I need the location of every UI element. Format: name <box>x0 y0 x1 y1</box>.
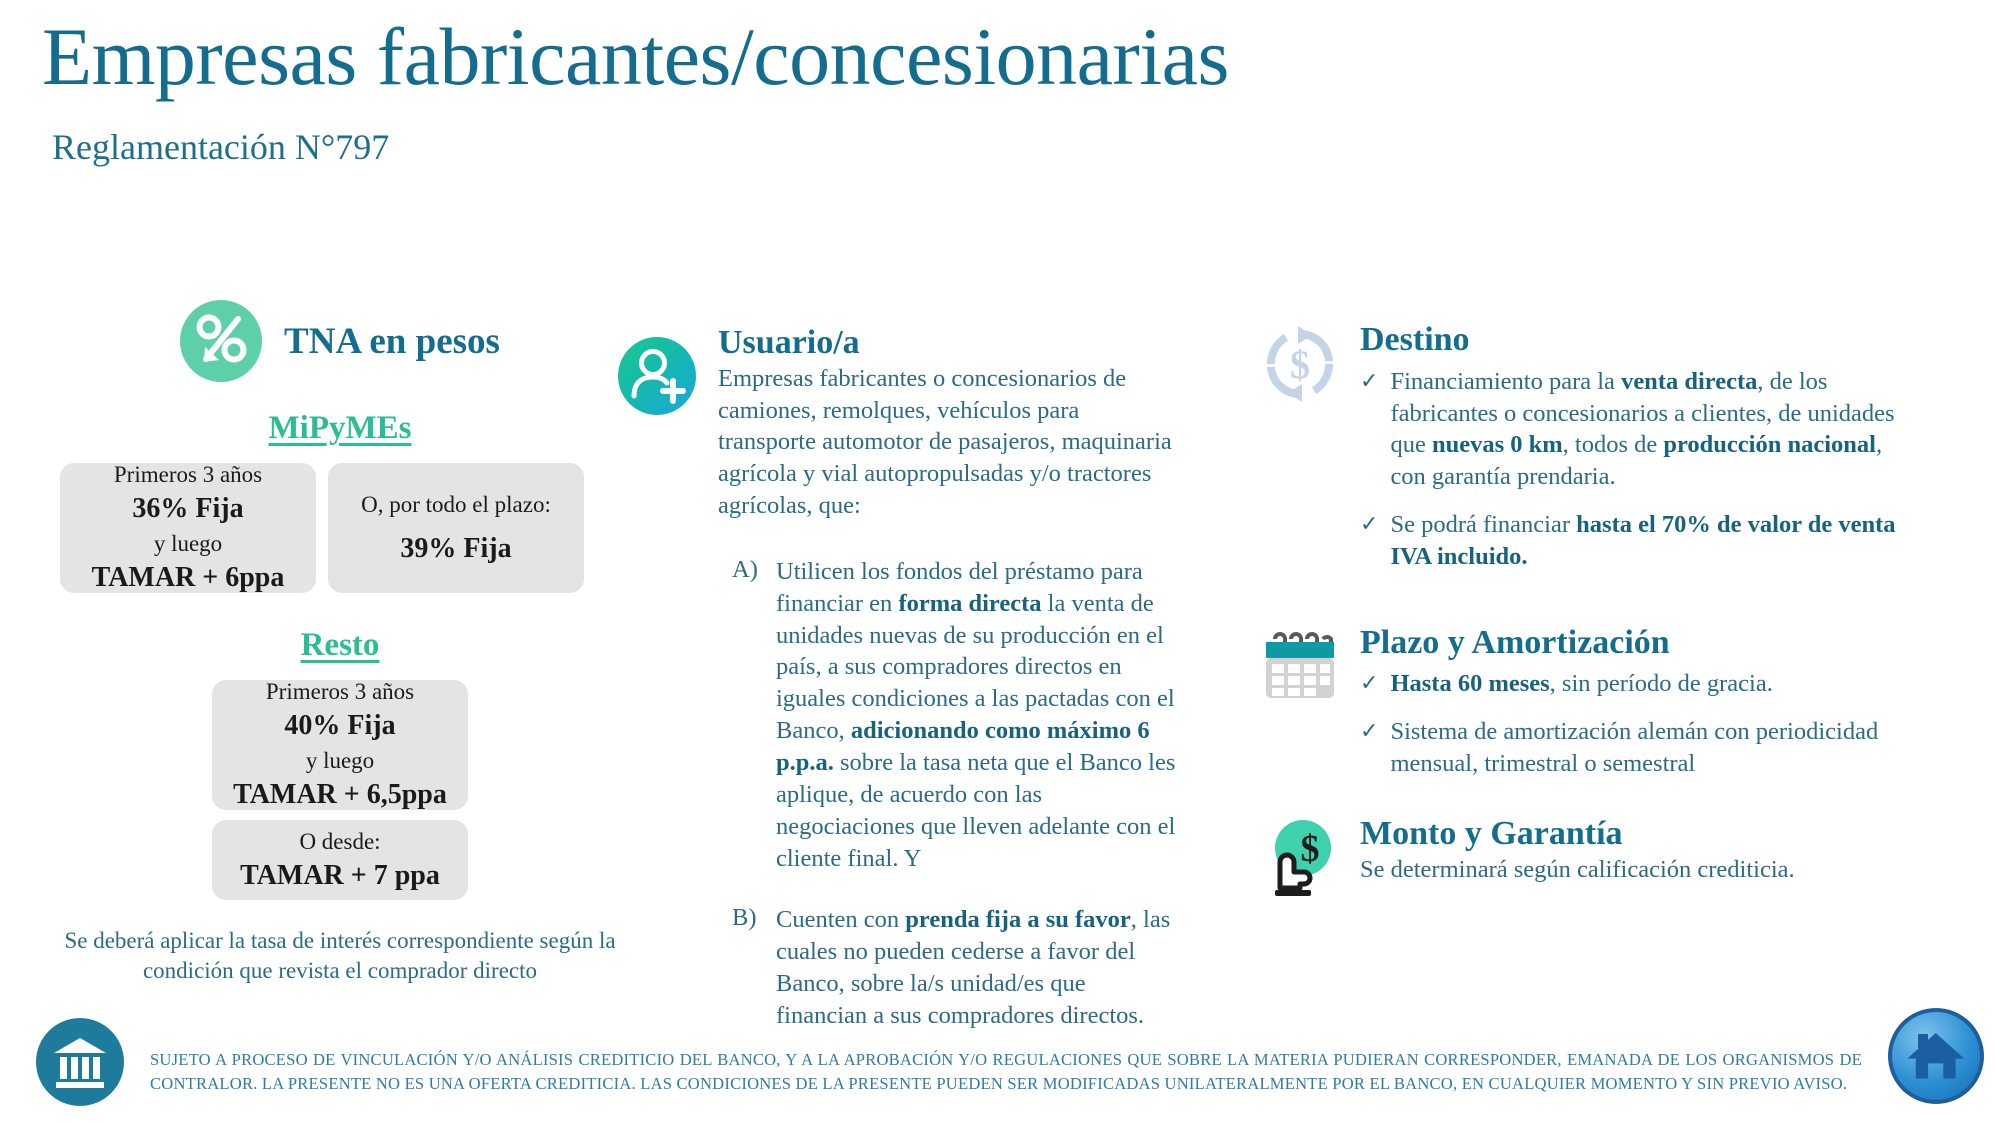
rate-box-mipymes-todo-plazo: O, por todo el plazo: 39% Fija <box>328 463 584 593</box>
rate-box-resto-desde: O desde: TAMAR + 7 ppa <box>212 820 468 900</box>
destino-check-2: Se podrá financiar hasta el 70% de valor… <box>1390 509 1898 573</box>
mipymes-box-row: Primeros 3 años 36% Fija y luego TAMAR +… <box>60 463 620 593</box>
block-monto-garantia: $ Monto y Garantía Se determinará según … <box>1258 816 1898 900</box>
rate-line: 40% Fija <box>284 707 395 745</box>
rate-line: 39% Fija <box>400 530 511 568</box>
slide-root: Empresas fabricantes/concesionarias Regl… <box>0 0 2000 1125</box>
plazo-text: Plazo y Amortización ✓ Hasta 60 meses, s… <box>1360 625 1898 780</box>
check-item: ✓ Se podrá financiar hasta el 70% de val… <box>1360 509 1898 573</box>
monto-text: Monto y Garantía Se determinará según ca… <box>1360 816 1898 886</box>
monto-title: Monto y Garantía <box>1360 816 1898 852</box>
tna-heading-row: TNA en pesos <box>60 300 620 382</box>
details-column: $ Destino ✓ Financiamiento para la venta… <box>1258 322 1898 900</box>
check-item: ✓ Hasta 60 meses, sin período de gracia. <box>1360 668 1898 700</box>
rate-line: Primeros 3 años <box>114 459 262 490</box>
usuario-item-a-text: Utilicen los fondos del préstamo para fi… <box>776 556 1178 874</box>
rate-box-mipymes-tramos: Primeros 3 años 36% Fija y luego TAMAR +… <box>60 463 316 593</box>
monto-description: Se determinará según calificación credit… <box>1360 854 1898 886</box>
rates-note: Se deberá aplicar la tasa de interés cor… <box>60 926 620 987</box>
check-icon: ✓ <box>1360 366 1378 493</box>
calendar-icon <box>1258 625 1342 709</box>
rate-line: y luego <box>154 528 222 559</box>
list-item: A) Utilicen los fondos del préstamo para… <box>732 556 1178 874</box>
block-destino: $ Destino ✓ Financiamiento para la venta… <box>1258 322 1898 573</box>
list-marker: B) <box>732 904 766 1031</box>
check-icon: ✓ <box>1360 509 1378 573</box>
rate-line: y luego <box>306 745 374 776</box>
tna-label: TNA en pesos <box>284 320 500 363</box>
destino-check-1: Financiamiento para la venta directa, de… <box>1390 366 1898 493</box>
rate-line: 36% Fija <box>132 490 243 528</box>
user-add-icon <box>618 337 696 415</box>
check-icon: ✓ <box>1360 716 1378 780</box>
check-item: ✓ Sistema de amortización alemán con per… <box>1360 716 1898 780</box>
svg-text:$: $ <box>1290 342 1310 387</box>
check-item: ✓ Financiamiento para la venta directa, … <box>1360 366 1898 493</box>
usuario-text: Usuario/a Empresas fabricantes o concesi… <box>718 325 1178 522</box>
usuario-title: Usuario/a <box>718 325 1178 361</box>
footer-disclaimer: SUJETO A PROCESO DE VINCULACIÓN Y/O ANÁL… <box>150 1048 1862 1096</box>
usuario-item-b-text: Cuenten con prenda fija a su favor, las … <box>776 904 1178 1031</box>
list-marker: A) <box>732 556 766 874</box>
recycle-dollar-icon: $ <box>1258 322 1342 406</box>
bank-icon[interactable] <box>36 1018 124 1106</box>
plazo-check-2: Sistema de amortización alemán con perio… <box>1390 716 1898 780</box>
page-title: Empresas fabricantes/concesionarias <box>42 14 1229 100</box>
usuario-header-row: Usuario/a Empresas fabricantes o concesi… <box>618 325 1178 522</box>
rate-line: O desde: <box>299 826 380 857</box>
rate-box-resto-tramos: Primeros 3 años 40% Fija y luego TAMAR +… <box>212 680 468 810</box>
rate-line: TAMAR + 6,5ppa <box>233 776 447 814</box>
rates-column: TNA en pesos MiPyMEs Primeros 3 años 36%… <box>60 300 620 987</box>
plazo-title: Plazo y Amortización <box>1360 625 1898 661</box>
plazo-check-1: Hasta 60 meses, sin período de gracia. <box>1390 668 1898 700</box>
rate-line: O, por todo el plazo: <box>361 489 551 520</box>
rate-line: TAMAR + 6ppa <box>92 559 285 597</box>
svg-text:$: $ <box>1301 828 1320 870</box>
block-plazo-amortizacion: Plazo y Amortización ✓ Hasta 60 meses, s… <box>1258 625 1898 780</box>
hand-dollar-icon: $ <box>1258 816 1342 900</box>
rate-line: TAMAR + 7 ppa <box>240 857 440 895</box>
page-subtitle: Reglamentación N°797 <box>52 126 389 168</box>
home-icon[interactable] <box>1888 1008 1984 1104</box>
group-title-mipymes: MiPyMEs <box>60 410 620 447</box>
rate-line: Primeros 3 años <box>266 676 414 707</box>
list-item: B) Cuenten con prenda fija a su favor, l… <box>732 904 1178 1031</box>
group-title-resto: Resto <box>60 627 620 664</box>
destino-text: Destino ✓ Financiamiento para la venta d… <box>1360 322 1898 573</box>
usuario-column: Usuario/a Empresas fabricantes o concesi… <box>618 325 1178 1032</box>
destino-title: Destino <box>1360 322 1898 358</box>
usuario-intro: Empresas fabricantes o concesionarios de… <box>718 363 1178 522</box>
percent-icon <box>180 300 262 382</box>
check-icon: ✓ <box>1360 668 1378 700</box>
